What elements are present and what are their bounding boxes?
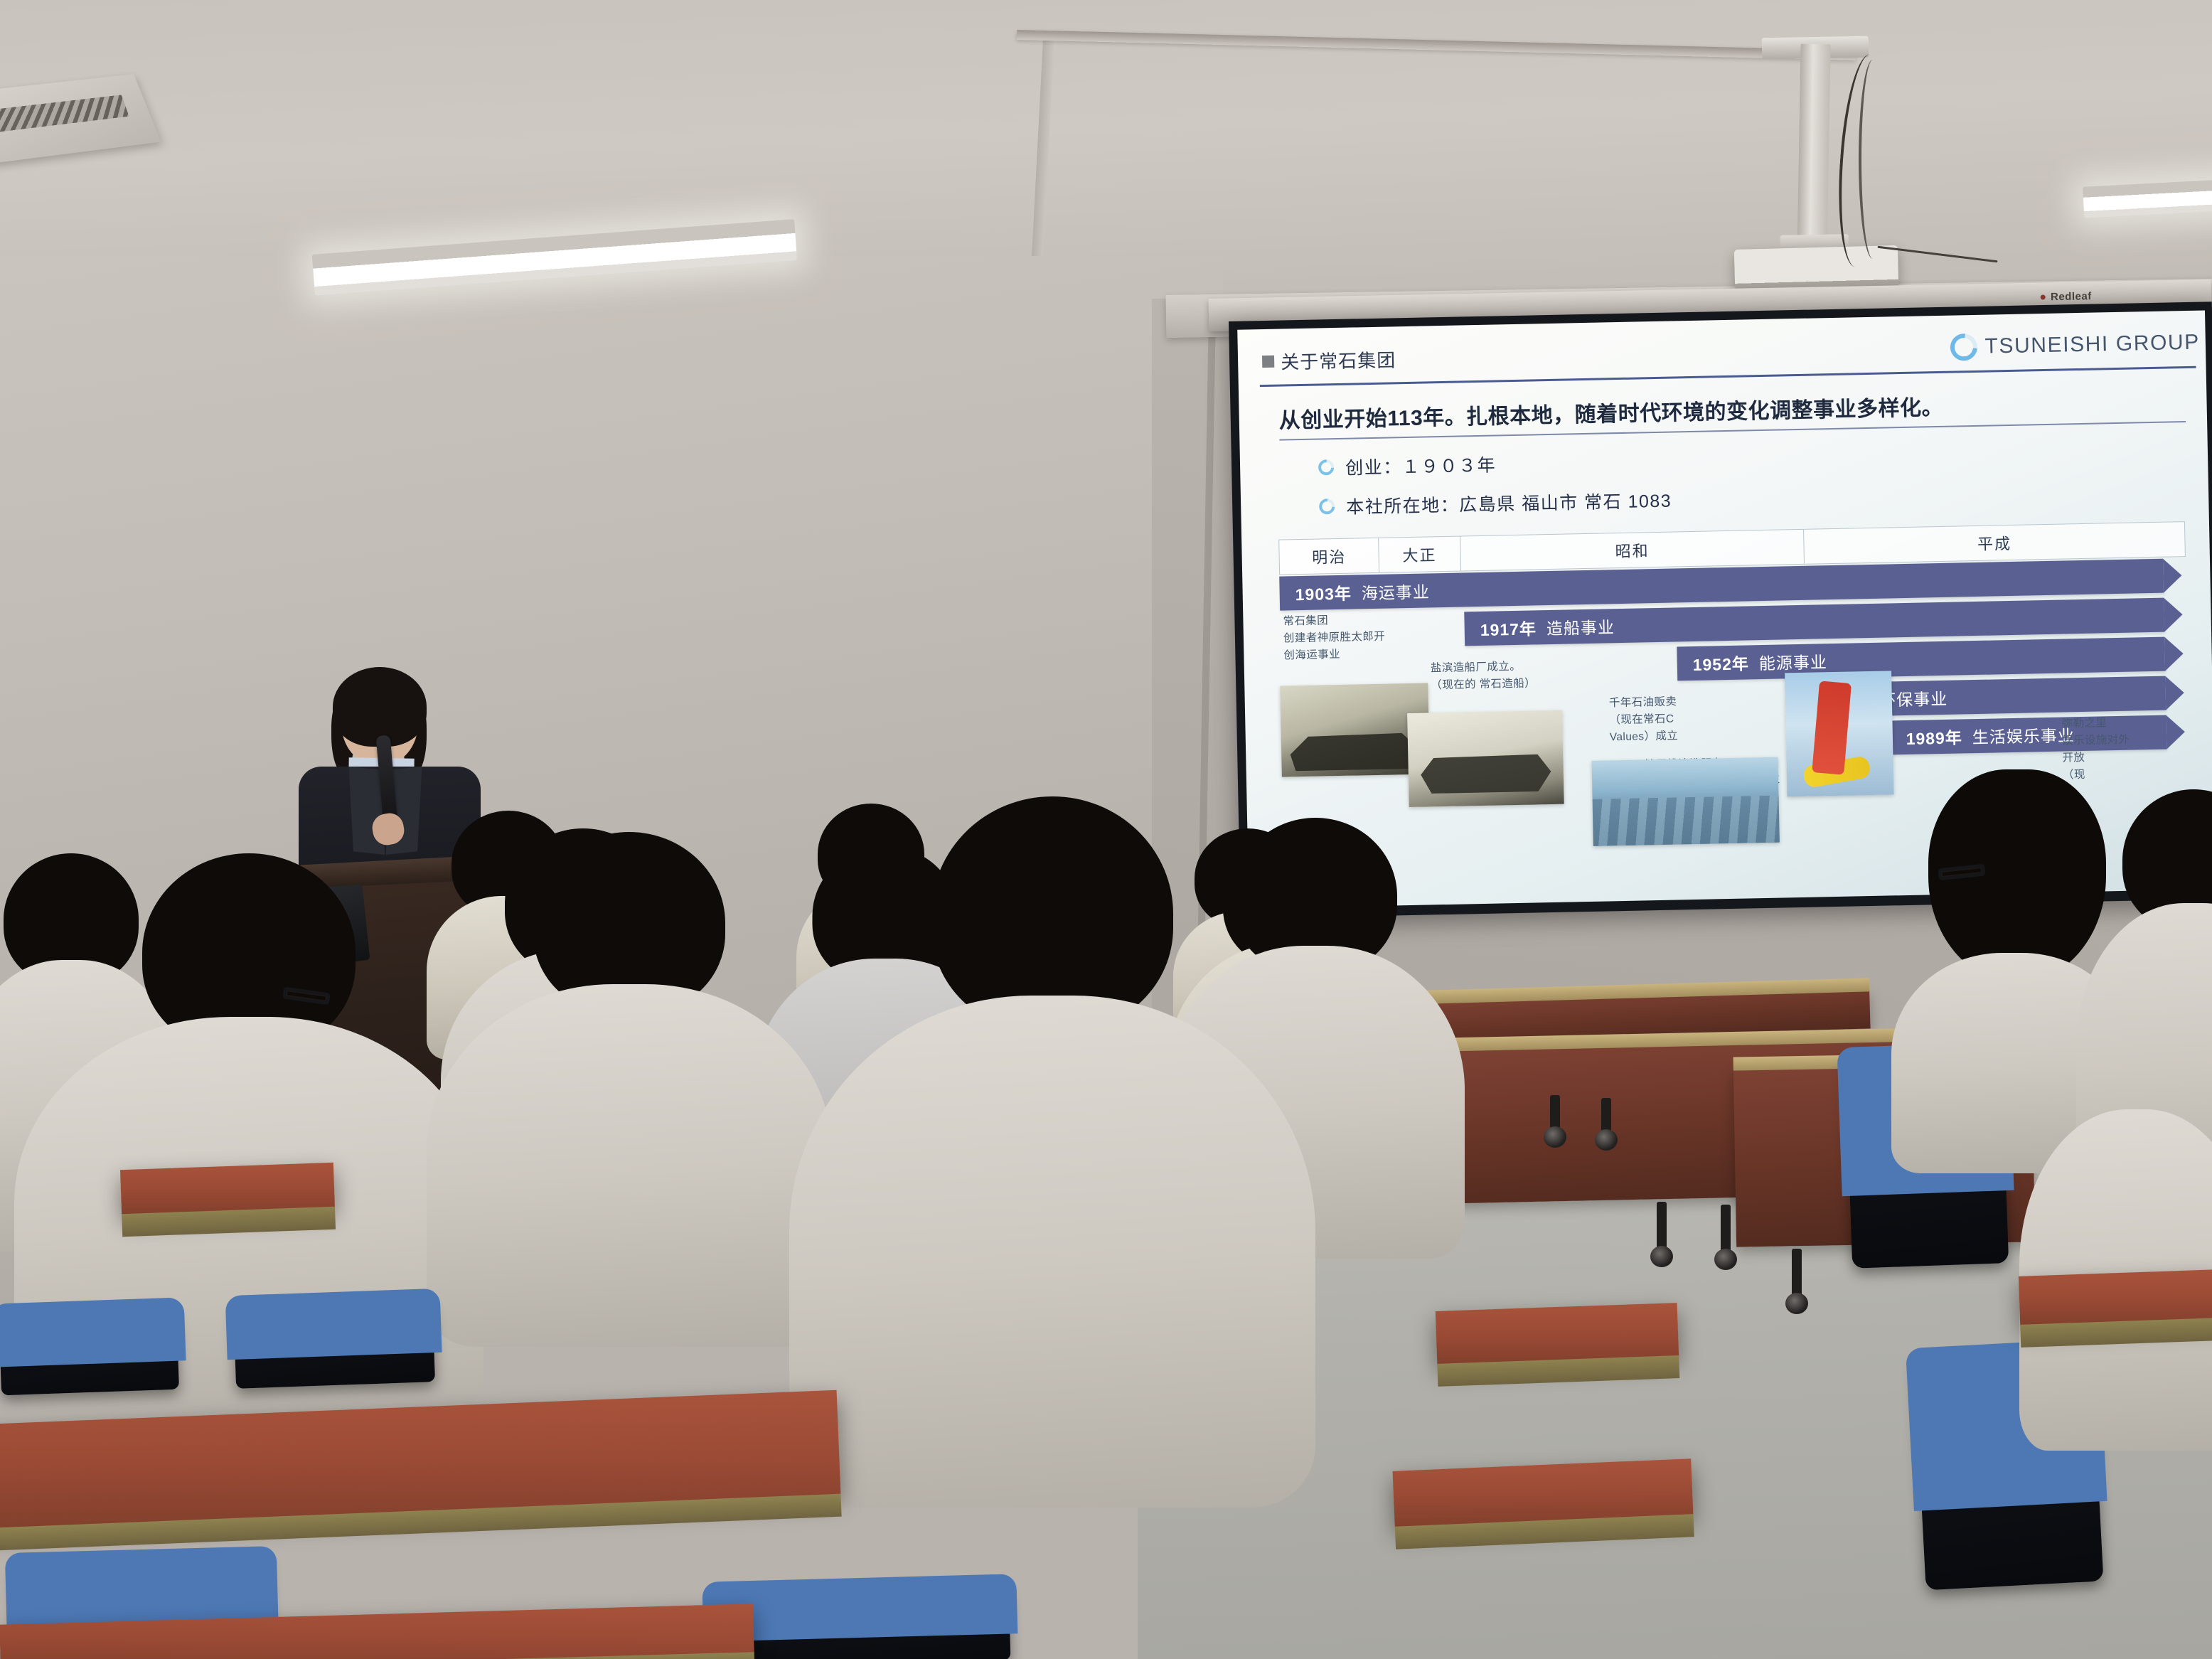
desk-right-foreground — [1393, 1458, 1694, 1528]
bullet-item-1: 本社所在地：広島県 福山市 常石 1083 — [1319, 487, 1672, 520]
ring-logo-icon — [1945, 329, 1982, 366]
bullet-label: 创业：１９０３年 — [1345, 451, 1497, 479]
annotation-0: 常石集团 创建者神原胜太郎开 创海运事业 — [1283, 612, 1386, 665]
ring-bullet-icon — [1316, 496, 1338, 518]
desk-caster — [1721, 1205, 1731, 1254]
bullet-label: 本社所在地：広島県 福山市 常石 1083 — [1346, 487, 1672, 519]
bar-year: 1989年 — [1906, 728, 1962, 748]
bullet-item-0: 创业：１９０３年 — [1318, 448, 1672, 481]
desk-caster — [1550, 1095, 1560, 1132]
roller-coaster-photo — [1785, 671, 1893, 796]
bar-name: 海运事业 — [1362, 582, 1431, 602]
projector-pole-mount — [1797, 44, 1830, 258]
era-cell-meiji: 明治 — [1279, 538, 1379, 575]
desk-left-back — [120, 1163, 335, 1215]
lecture-room-scene: Redleaf 关于常石集团 TSUNEISHI GROUP 从创业开始113年… — [0, 0, 2212, 1659]
torso — [789, 996, 1315, 1508]
torso — [427, 984, 832, 1347]
desk-right-far — [2019, 1269, 2212, 1326]
slide-header-text: 关于常石集团 — [1281, 346, 1396, 374]
presenter-hair — [333, 667, 427, 747]
bar-year: 1917年 — [1480, 619, 1537, 639]
era-cell-taisho: 大正 — [1379, 537, 1461, 572]
bar-year: 1952年 — [1692, 654, 1749, 674]
annotation-2: 千年石油贩卖 （现在常石C Values）成立 — [1609, 693, 1679, 746]
chair-fg-1 — [0, 1306, 179, 1396]
era-cell-showa: 昭和 — [1460, 530, 1805, 571]
brand-name: TSUNEISHI GROUP — [1984, 331, 2200, 359]
bar-name: 造船事业 — [1546, 618, 1615, 638]
desk-right-mid — [1436, 1303, 1679, 1365]
shipyard-aerial-photo — [1592, 757, 1780, 846]
tsuneishi-logo: TSUNEISHI GROUP — [1950, 329, 2200, 361]
slide-bullet-list: 创业：１９０３年 本社所在地：広島県 福山市 常石 1083 — [1318, 448, 1672, 533]
bar-name: 生活娱乐事业 — [1972, 726, 2075, 747]
slide-header-title-group: 关于常石集团 — [1262, 346, 1396, 375]
era-cell-heisei: 平成 — [1804, 522, 2185, 564]
timeline-bar-2: 1952年能源事业 — [1677, 637, 2165, 681]
bar-year: 1903年 — [1295, 585, 1352, 604]
desk-caster — [1792, 1249, 1802, 1298]
chair-fg-4 — [710, 1582, 1011, 1659]
desk-caster — [1601, 1098, 1611, 1135]
annotation-1: 盐滨造船厂成立。 （现在的 常石造船） — [1431, 658, 1537, 694]
projector-cable-2 — [1859, 60, 1887, 259]
bar-name: 能源事业 — [1759, 653, 1828, 673]
ship-slipway-photo — [1407, 710, 1564, 807]
ring-bullet-icon — [1315, 457, 1337, 479]
screen-brand-label: Redleaf — [2051, 290, 2092, 303]
square-bullet-icon — [1262, 355, 1274, 367]
audience-member-fg-center — [789, 796, 1315, 1508]
chair-fg-2 — [233, 1296, 435, 1389]
slide-header-bar: 关于常石集团 TSUNEISHI GROUP — [1262, 321, 2195, 383]
audience-member-fg-mid — [427, 832, 832, 1344]
slide-title: 从创业开始113年。扎根本地，随着时代环境的变化调整事业多样化。 — [1278, 385, 2186, 441]
desk-caster — [1657, 1202, 1667, 1252]
